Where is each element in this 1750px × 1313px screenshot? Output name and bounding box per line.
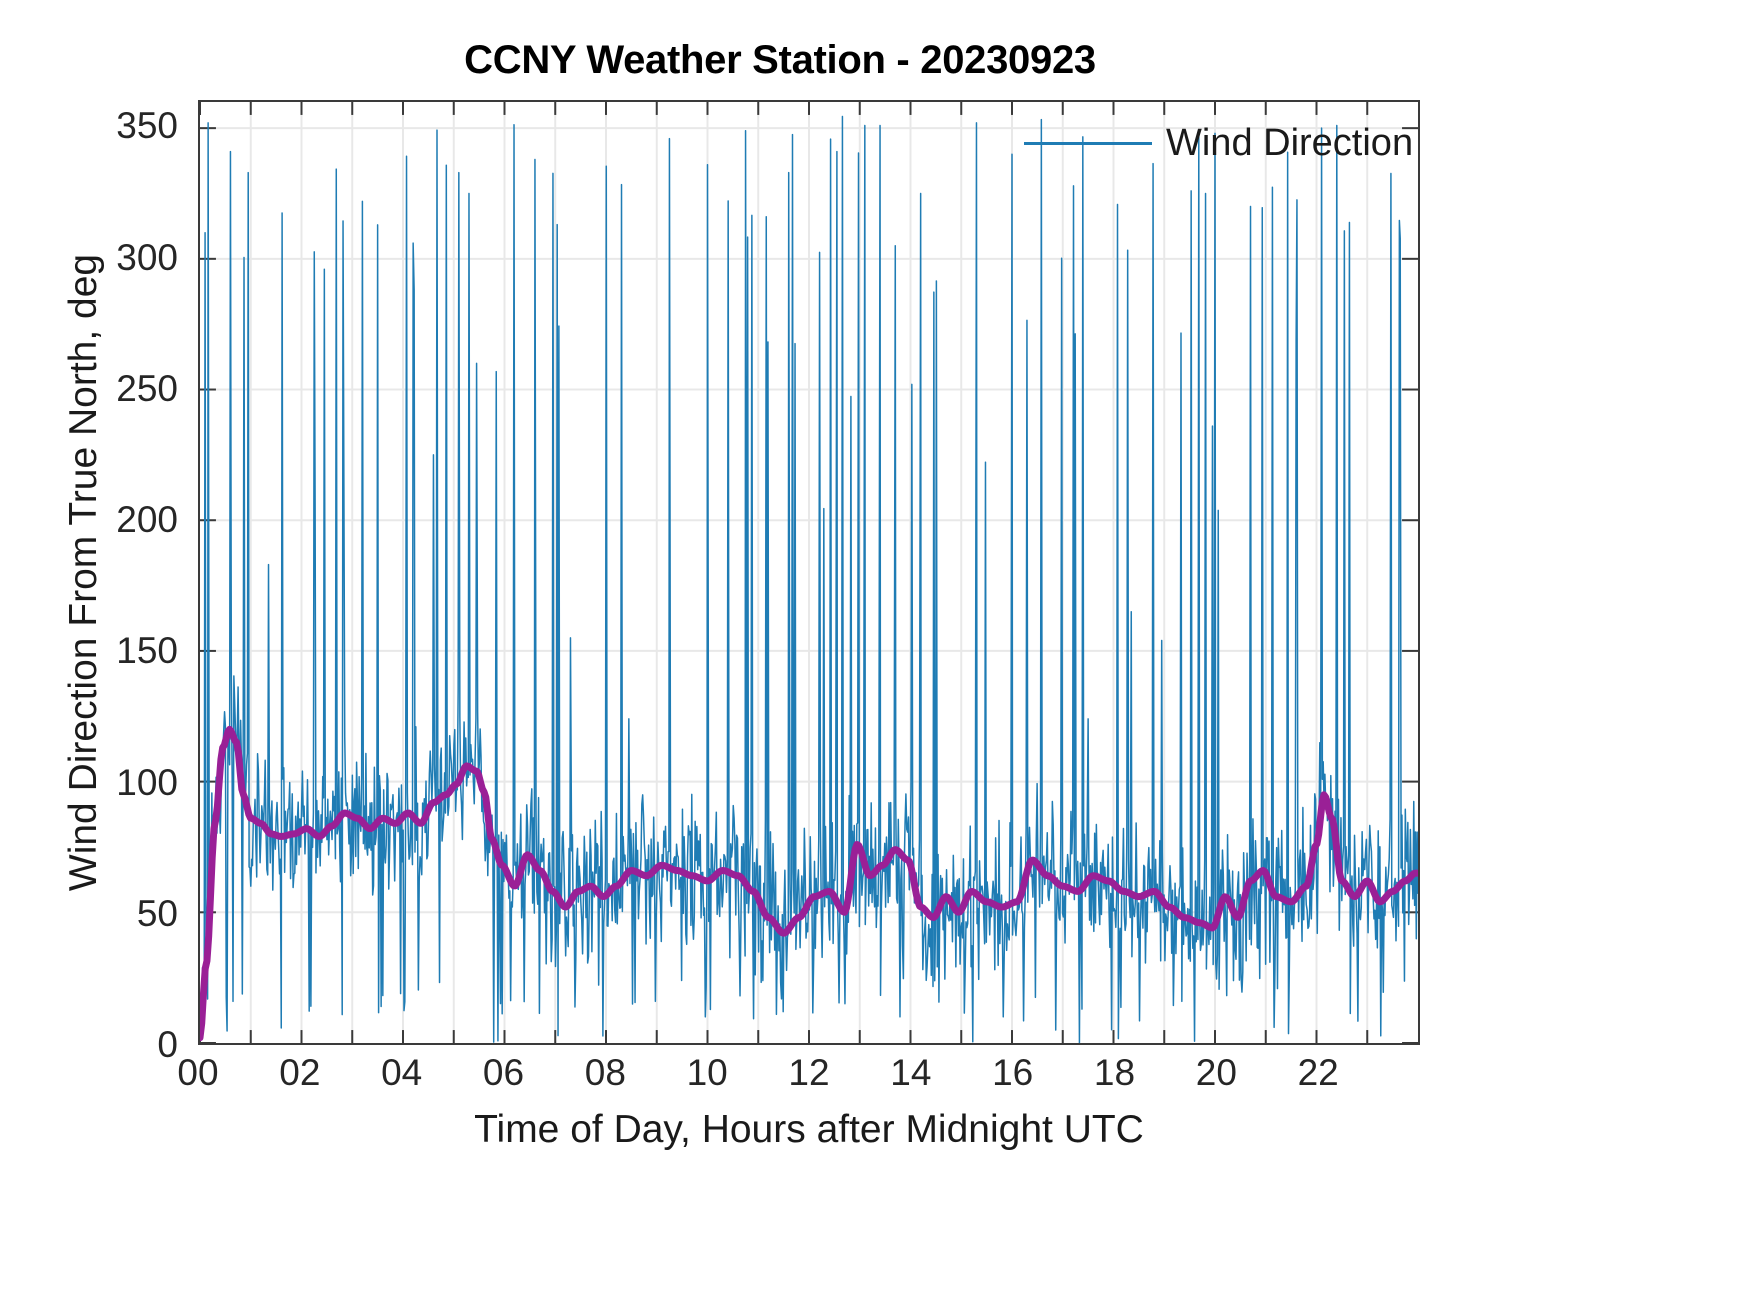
x-axis-tick-labels: 000204060810121416182022	[198, 1052, 1420, 1102]
y-tick-label: 300	[20, 237, 178, 279]
legend-line-swatch	[1024, 142, 1152, 145]
plot-svg	[200, 102, 1418, 1043]
x-tick-label: 16	[992, 1052, 1033, 1094]
x-tick-label: 18	[1094, 1052, 1135, 1094]
x-tick-label: 10	[687, 1052, 728, 1094]
y-tick-label: 350	[20, 105, 178, 147]
figure-canvas: CCNY Weather Station - 20230923 Wind Dir…	[0, 0, 1750, 1313]
x-tick-label: 00	[177, 1052, 218, 1094]
x-axis-label: Time of Day, Hours after Midnight UTC	[198, 1108, 1420, 1152]
x-tick-label: 06	[483, 1052, 524, 1094]
y-tick-label: 250	[20, 368, 178, 410]
page-title: CCNY Weather Station - 20230923	[0, 38, 1560, 83]
x-tick-label: 14	[890, 1052, 931, 1094]
x-tick-label: 20	[1196, 1052, 1237, 1094]
y-tick-label: 200	[20, 499, 178, 541]
y-tick-label: 0	[20, 1024, 178, 1066]
x-tick-label: 02	[279, 1052, 320, 1094]
y-tick-label: 100	[20, 762, 178, 804]
x-tick-label: 04	[381, 1052, 422, 1094]
legend-item-label: Wind Direction	[1166, 122, 1413, 165]
y-axis-tick-labels: 050100150200250300350	[20, 100, 178, 1045]
x-tick-label: 08	[585, 1052, 626, 1094]
x-tick-label: 22	[1298, 1052, 1339, 1094]
plot-area	[198, 100, 1420, 1045]
y-tick-label: 50	[20, 893, 178, 935]
legend: Wind Direction	[1018, 118, 1419, 169]
y-tick-label: 150	[20, 630, 178, 672]
x-tick-label: 12	[788, 1052, 829, 1094]
